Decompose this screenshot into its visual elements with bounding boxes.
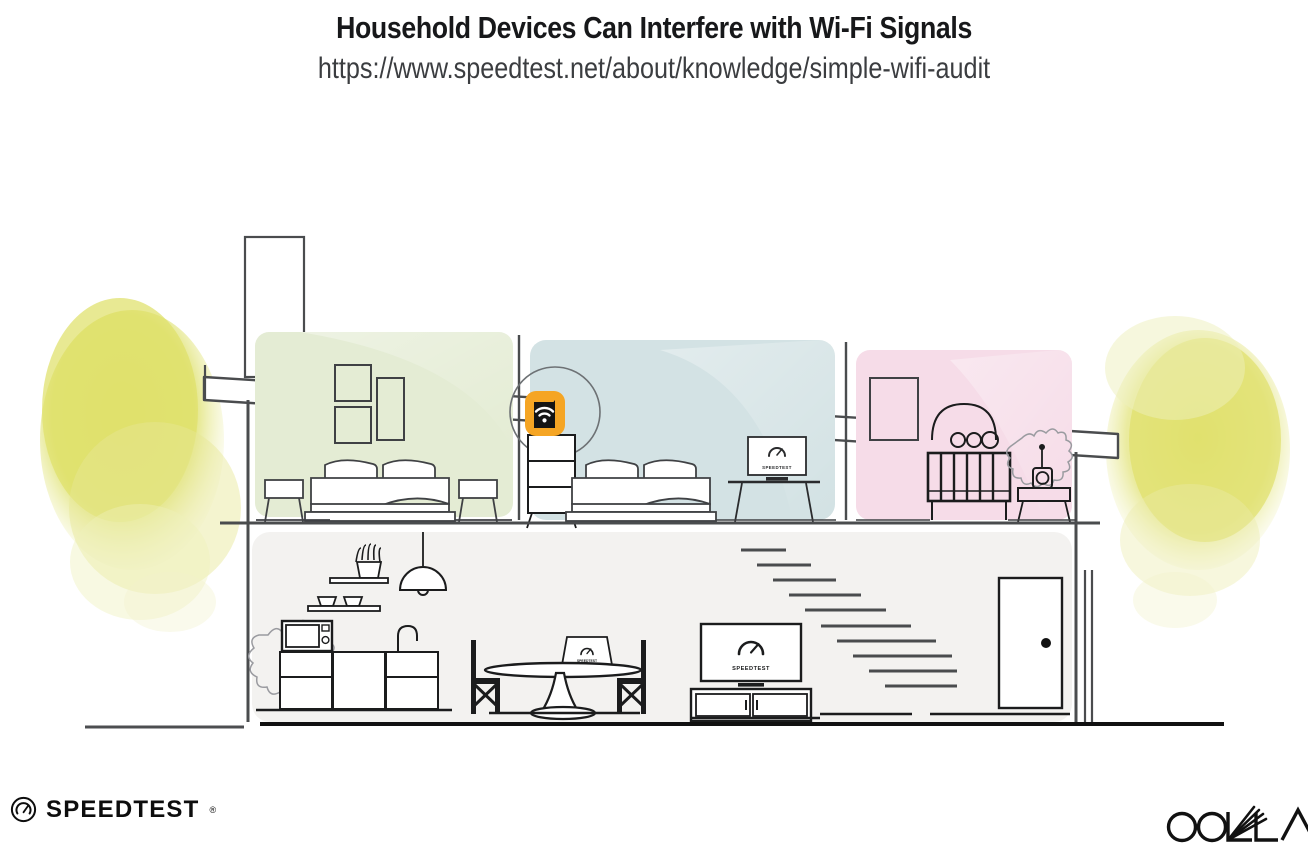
footer: SPEEDTEST ® ™ — [0, 780, 1308, 861]
speedtest-registered-mark: ® — [210, 805, 217, 815]
monitor-brand-text: SPEEDTEST — [762, 465, 792, 470]
ground-lines — [85, 724, 1224, 727]
ookla-logo: ™ — [1158, 800, 1308, 844]
entry-door[interactable] — [999, 578, 1062, 708]
speedtest-gauge-icon — [10, 796, 37, 823]
room-bedroom-middle: SPEEDTEST — [510, 340, 836, 528]
desk-monitor[interactable]: SPEEDTEST — [748, 437, 806, 481]
nursery-nightstand — [1018, 488, 1070, 501]
tv-area: SPEEDTEST — [691, 624, 811, 721]
poster-canvas: Household Devices Can Interfere with Wi-… — [0, 0, 1308, 861]
speedtest-wordmark: SPEEDTEST — [46, 798, 200, 822]
room-nursery-right — [856, 350, 1076, 522]
microwave-oven[interactable] — [282, 621, 332, 651]
media-console — [691, 689, 811, 721]
foliage-left — [40, 298, 241, 632]
house-illustration: SPEEDTEST — [0, 110, 1308, 750]
room-bedroom-left — [255, 332, 513, 522]
ookla-wordmark-icon: ™ — [1158, 800, 1308, 844]
room-basement: SPEEDTEST — [249, 532, 1072, 722]
television[interactable]: SPEEDTEST — [701, 624, 801, 687]
page-title: Household Devices Can Interfere with Wi-… — [92, 0, 1217, 46]
header: Household Devices Can Interfere with Wi-… — [0, 0, 1308, 86]
source-url: https://www.speedtest.net/about/knowledg… — [105, 46, 1204, 86]
wifi-router[interactable] — [525, 391, 565, 436]
tv-brand-text: SPEEDTEST — [732, 666, 770, 672]
door-knob-icon — [1041, 638, 1051, 648]
speedtest-logo: SPEEDTEST ® — [10, 796, 216, 823]
foliage-right — [1105, 316, 1290, 628]
